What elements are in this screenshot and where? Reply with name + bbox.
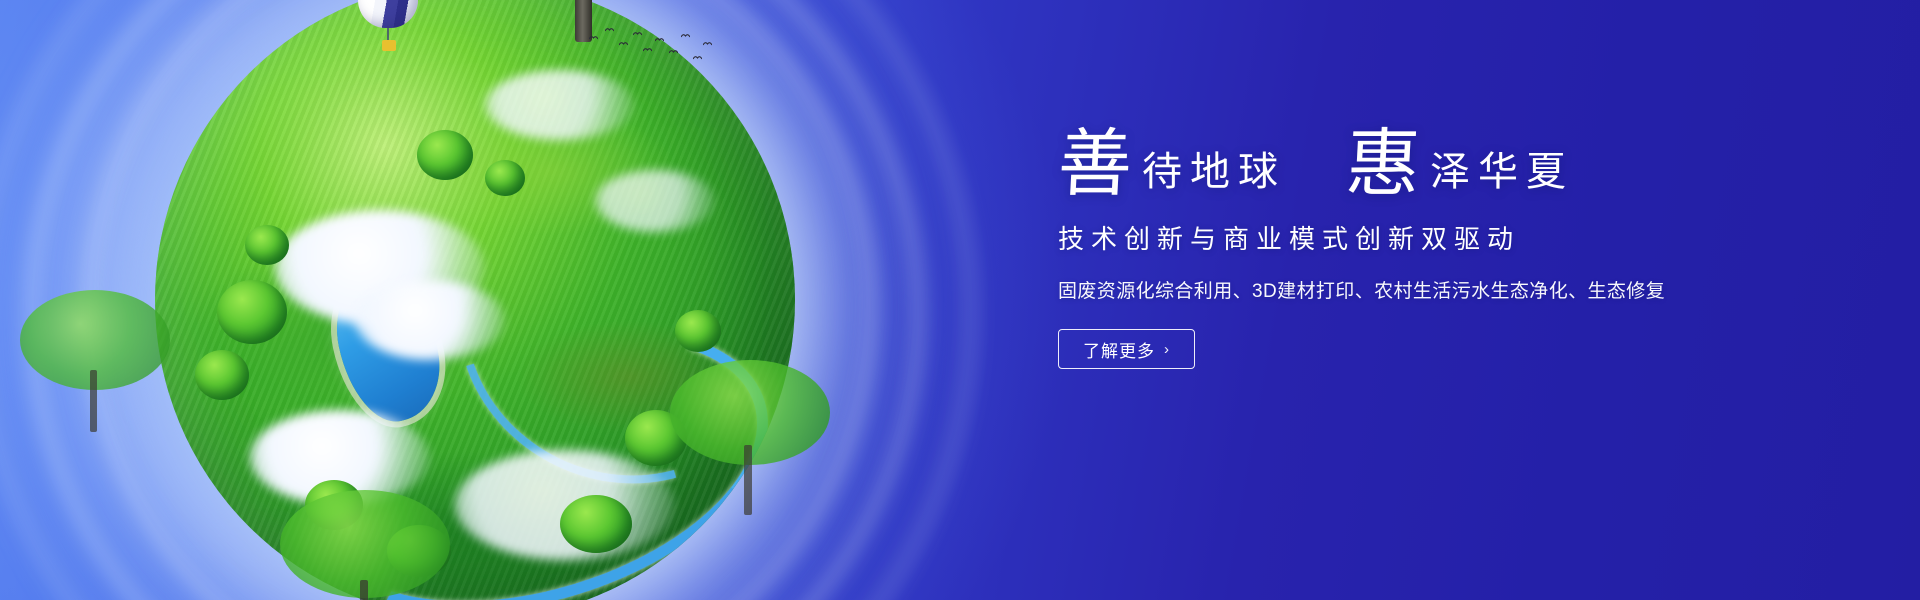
tree-canopy-icon: [560, 495, 632, 553]
tree-trunk-icon: [90, 370, 97, 432]
cloud-icon: [595, 170, 715, 232]
bird-icon: [633, 31, 641, 36]
balloon-basket-icon: [382, 40, 396, 51]
bird-icon: [681, 33, 689, 38]
bird-icon: [693, 55, 701, 60]
headline-big-char: 惠: [1344, 130, 1422, 201]
headline-big-char: 善: [1056, 130, 1134, 201]
hero-banner: 善 待地球 惠 泽华夏 技术创新与商业模式创新双驱动 固废资源化综合利用、3D建…: [0, 0, 1920, 600]
tree-canopy-icon: [675, 310, 721, 352]
banner-subheading: 技术创新与商业模式创新双驱动: [1058, 219, 1758, 256]
cloud-icon: [455, 450, 675, 560]
bird-icon: [703, 41, 711, 46]
learn-more-label: 了解更多: [1083, 337, 1155, 362]
bird-icon: [589, 35, 597, 40]
tree-canopy-icon: [417, 130, 473, 180]
hot-air-balloon-icon: [358, 0, 418, 54]
tree-trunk-icon: [744, 445, 752, 515]
tree-icon: [280, 490, 450, 600]
banner-content: 善 待地球 惠 泽华夏 技术创新与商业模式创新双驱动 固废资源化综合利用、3D建…: [1058, 130, 1758, 369]
globe-illustration: [130, 0, 830, 600]
tree-canopy-icon: [245, 225, 289, 265]
learn-more-button[interactable]: 了解更多 ›: [1058, 329, 1195, 369]
banner-description: 固废资源化综合利用、3D建材打印、农村生活污水生态净化、生态修复: [1058, 276, 1758, 303]
tree-icon: [20, 290, 170, 440]
headline-segment-one: 善 待地球: [1058, 130, 1286, 201]
bird-flock-icon: [585, 25, 715, 75]
bird-icon: [655, 37, 663, 42]
balloon-envelope-icon: [358, 0, 418, 28]
tree-trunk-icon: [360, 580, 368, 600]
bird-icon: [669, 49, 677, 54]
tree-canopy-icon: [485, 160, 525, 196]
tree-canopy-icon: [217, 280, 287, 344]
bird-icon: [605, 27, 613, 32]
tree-canopy-icon: [195, 350, 249, 400]
bird-icon: [643, 47, 651, 52]
bird-icon: [619, 41, 627, 46]
headline-segment-two: 惠 泽华夏: [1346, 130, 1574, 201]
headline-small-chars: 待地球: [1132, 152, 1286, 201]
page-title: 善 待地球 惠 泽华夏: [1058, 130, 1758, 201]
cloud-icon: [355, 280, 505, 360]
tree-icon: [670, 360, 830, 530]
headline-small-chars: 泽华夏: [1420, 152, 1574, 201]
cloud-icon: [485, 70, 635, 140]
chevron-right-icon: ›: [1164, 342, 1170, 357]
